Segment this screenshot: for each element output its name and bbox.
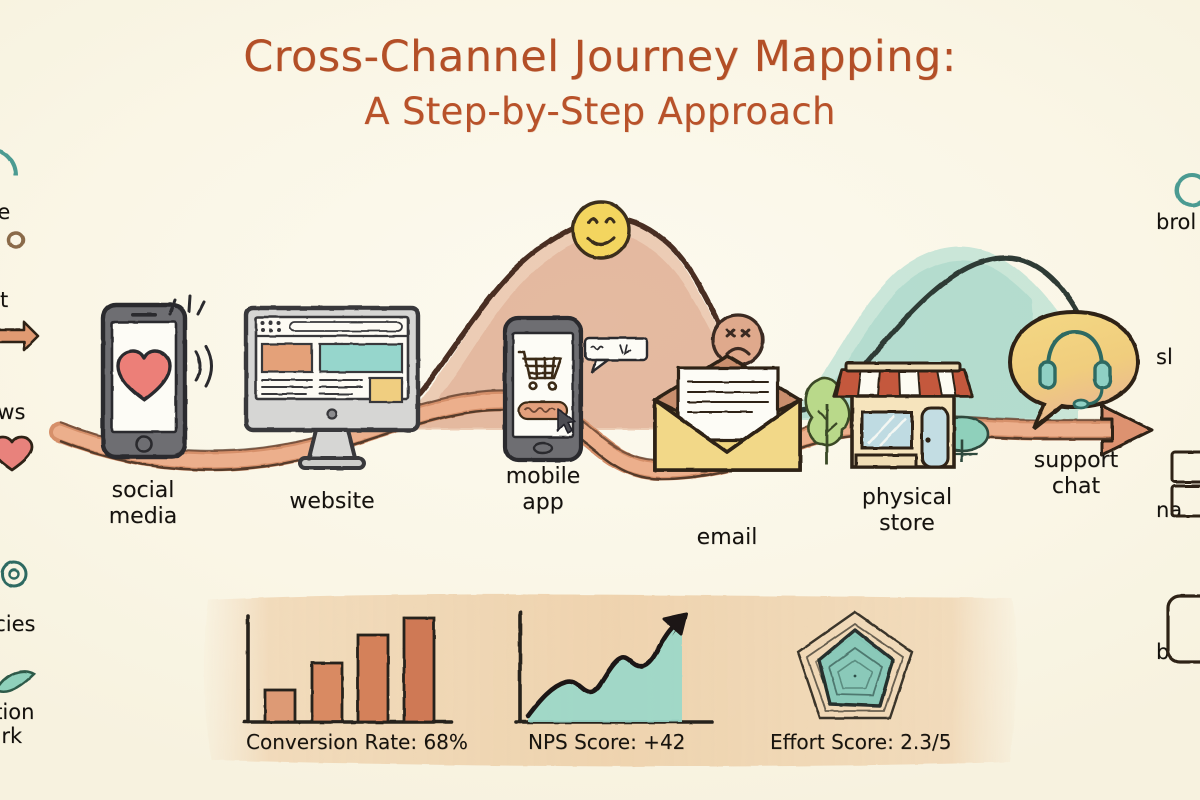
edge-label-broken: brol (1156, 210, 1196, 234)
open-envelope-icon (655, 356, 800, 470)
phone-cart-icon (505, 318, 647, 460)
page-subtitle: A Step-by-Step Approach (0, 90, 1200, 133)
chat-headset-icon (1009, 312, 1138, 428)
tree-left (806, 378, 850, 464)
channel-label-social-media: social media (88, 478, 198, 530)
edge-label-flow-arrows: rrows (0, 400, 25, 424)
smiling-face-icon (573, 202, 629, 258)
title-block: Cross-Channel Journey Mapping: A Step-by… (0, 34, 1200, 133)
edge-label-b: b (1156, 640, 1169, 664)
infographic-canvas: Cross-Channel Journey Mapping: A Step-by… (0, 0, 1200, 800)
journey-path-ribbon (60, 391, 1152, 479)
metric-label-conversion-rate: Conversion Rate: 68% (246, 730, 468, 754)
channel-label-mobile-app: mobile app (488, 464, 598, 516)
edge-label-na: na (1156, 498, 1182, 522)
channel-label-support-chat: support chat (1018, 448, 1134, 500)
page-title: Cross-Channel Journey Mapping: (0, 34, 1200, 80)
edge-label-dependencies: r encies (0, 588, 35, 637)
bar-chart (244, 616, 452, 722)
area-chart (516, 612, 712, 722)
channel-label-physical-store: physical store (845, 485, 969, 537)
frowning-face-icon (713, 315, 763, 365)
edge-label-slow: sl (1156, 345, 1173, 369)
edge-label-foundation-mark: dation mark (0, 700, 34, 749)
channel-label-website: website (272, 489, 392, 515)
metric-label-effort-score: Effort Score: 2.3/5 (770, 730, 951, 754)
tree-right (936, 417, 988, 462)
desktop-monitor-icon (246, 308, 418, 468)
metric-label-nps-score: NPS Score: +42 (528, 730, 685, 754)
storefront-icon (806, 363, 988, 467)
channel-label-email: email (680, 525, 774, 551)
radar-chart (798, 612, 912, 718)
phone-heart-icon (103, 296, 212, 457)
edge-label-touchpoints: oint s (0, 288, 8, 337)
edge-label-persona-palette: na ette (0, 176, 10, 225)
emotion-curve (352, 218, 1092, 440)
